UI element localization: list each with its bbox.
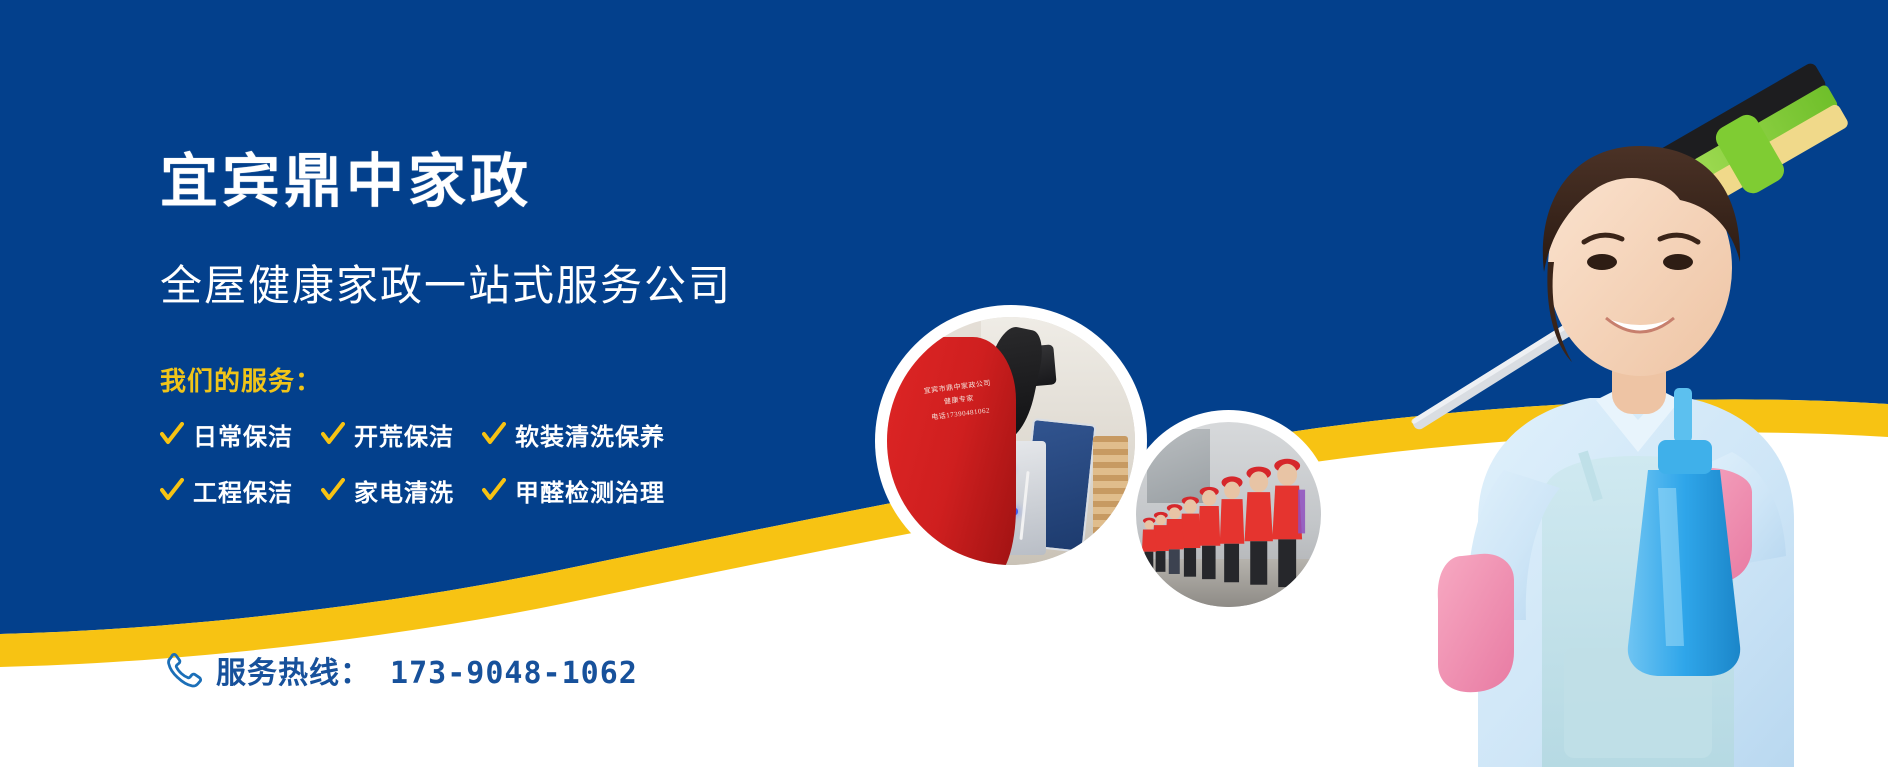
check-icon — [160, 422, 184, 446]
team-photo — [1124, 410, 1333, 619]
technician-photo: 宜宾市鼎中家政公司 健康专家 电话17390481062 — [875, 305, 1147, 577]
service-item-daily-cleaning[interactable]: 日常保洁 — [160, 417, 293, 452]
check-icon — [321, 422, 345, 446]
service-label: 工程保洁 — [193, 473, 293, 508]
team-figures — [1136, 422, 1321, 607]
team-photo-inner — [1136, 422, 1321, 607]
service-item-appliance-cleaning[interactable]: 家电清洗 — [321, 473, 454, 508]
hotline[interactable]: 服务热线： 173-9048-1062 — [160, 648, 638, 692]
cleaning-lady-photo — [1328, 0, 1888, 767]
page-title: 宜宾鼎中家政 — [160, 152, 532, 210]
check-icon — [482, 478, 506, 502]
service-label: 开荒保洁 — [354, 417, 454, 452]
check-icon — [160, 478, 184, 502]
check-icon — [321, 478, 345, 502]
service-item-rough-cleaning[interactable]: 开荒保洁 — [321, 417, 454, 452]
service-label: 甲醛检测治理 — [515, 473, 665, 508]
services-row-2: 工程保洁 家电清洗 甲醛检测治理 — [160, 466, 800, 514]
services-list: 日常保洁 开荒保洁 软装清洗保养 — [160, 410, 800, 514]
service-label: 日常保洁 — [193, 417, 293, 452]
hotline-text: 服务热线： 173-9048-1062 — [216, 648, 638, 692]
phone-icon — [160, 649, 202, 691]
service-item-project-cleaning[interactable]: 工程保洁 — [160, 473, 293, 508]
services-row-1: 日常保洁 开荒保洁 软装清洗保养 — [160, 410, 800, 458]
services-heading: 我们的服务： — [160, 368, 322, 394]
service-item-formaldehyde-testing[interactable]: 甲醛检测治理 — [482, 473, 665, 508]
brand-subtitle: 全屋健康家政一站式服务公司 — [160, 265, 732, 307]
text-content: 宜宾鼎中家政 全屋健康家政一站式服务公司 我们的服务： 日常保洁 开荒保洁 — [0, 0, 900, 767]
technician-photo-inner: 宜宾市鼎中家政公司 健康专家 电话17390481062 — [887, 317, 1135, 565]
check-icon — [482, 422, 506, 446]
service-label: 软装清洗保养 — [515, 417, 665, 452]
service-label: 家电清洗 — [354, 473, 454, 508]
service-item-soft-furnishing-care[interactable]: 软装清洗保养 — [482, 417, 665, 452]
promo-banner: 宜宾市鼎中家政公司 健康专家 电话17390481062 — [0, 0, 1888, 767]
